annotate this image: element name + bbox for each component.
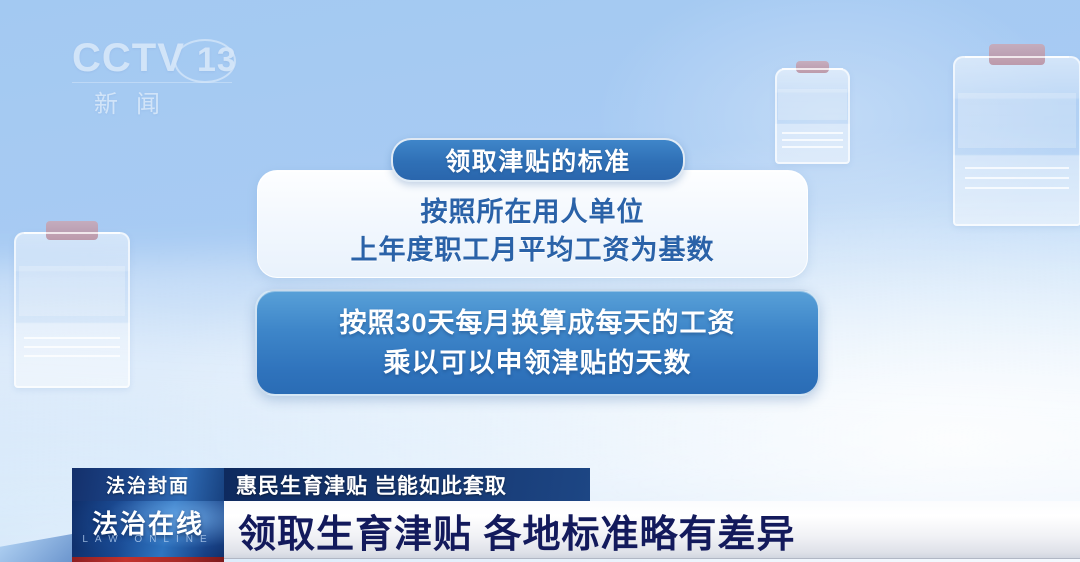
info-card-white-line1: 按照所在用人单位 bbox=[421, 193, 645, 231]
clipboard-header-band bbox=[778, 89, 847, 120]
channel-logo-cctv-text: CCTV bbox=[72, 36, 185, 80]
clipboard-line bbox=[965, 177, 1070, 179]
clipboard-icon bbox=[775, 68, 850, 164]
lower-third: 法治封面 惠民生育津贴 岂能如此套取 法治在线 LAW ONLINE 领取生育津… bbox=[0, 468, 1080, 562]
lower-third-left-wedge bbox=[0, 534, 72, 562]
clipboard-line bbox=[24, 337, 119, 339]
lower-third-bottom-row: 法治在线 LAW ONLINE 领取生育津贴 各地标准略有差异 bbox=[0, 501, 1080, 562]
channel-logo: CCTV 13 新闻 bbox=[72, 36, 232, 118]
info-card-white: 按照所在用人单位 上年度职工月平均工资为基数 bbox=[257, 170, 808, 278]
info-card-white-line2: 上年度职工月平均工资为基数 bbox=[351, 231, 715, 269]
clipboard-line bbox=[965, 167, 1070, 169]
clipboard-line bbox=[24, 346, 119, 348]
info-card-blue-line1: 按照30天每月换算成每天的工资 bbox=[339, 303, 735, 343]
lower-third-subtitle-bar: 惠民生育津贴 岂能如此套取 bbox=[224, 468, 590, 501]
info-card-blue: 按照30天每月换算成每天的工资 乘以可以申领津贴的天数 bbox=[255, 289, 820, 396]
clipboard-line bbox=[24, 355, 119, 357]
lower-third-brand-block: 法治在线 LAW ONLINE bbox=[72, 501, 224, 557]
clipboard-icon bbox=[14, 232, 130, 388]
lower-third-subtitle-text: 惠民生育津贴 岂能如此套取 bbox=[236, 470, 507, 500]
clipboard-line bbox=[965, 187, 1070, 189]
clipboard-line bbox=[782, 132, 844, 134]
lower-third-brand-sub: LAW ONLINE bbox=[72, 534, 224, 545]
clipboard-line bbox=[782, 139, 844, 141]
clipboard-line bbox=[782, 68, 844, 70]
channel-logo-oval-icon bbox=[174, 39, 236, 83]
clipboard-header-band bbox=[19, 266, 126, 316]
clipboard-clip-icon bbox=[46, 221, 97, 240]
lower-third-headline-text: 领取生育津贴 各地标准略有差异 bbox=[238, 503, 796, 558]
lower-third-kicker: 法治封面 bbox=[72, 468, 224, 501]
lower-third-top-row: 法治封面 惠民生育津贴 岂能如此套取 bbox=[72, 468, 590, 501]
lower-third-headline-bar: 领取生育津贴 各地标准略有差异 bbox=[224, 501, 1080, 559]
info-pill-heading: 领取津贴的标准 bbox=[391, 138, 685, 182]
channel-logo-divider bbox=[72, 82, 232, 83]
channel-logo-subtitle: 新闻 bbox=[94, 84, 232, 119]
info-card-blue-line2: 乘以可以申领津贴的天数 bbox=[384, 343, 692, 383]
lower-third-kicker-label: 法治封面 bbox=[106, 471, 190, 498]
broadcast-screen: CCTV 13 新闻 按照所在用人单位 上年度职工月平均工资为基数 领取津贴的标… bbox=[0, 0, 1080, 562]
lower-third-brand-redbar bbox=[72, 557, 224, 562]
clipboard-clip-icon bbox=[989, 44, 1045, 64]
clipboard-line bbox=[782, 146, 844, 148]
info-pill-label: 领取津贴的标准 bbox=[445, 142, 631, 178]
clipboard-line bbox=[24, 232, 119, 234]
clipboard-header-band bbox=[958, 93, 1076, 147]
clipboard-line bbox=[965, 56, 1070, 58]
clipboard-icon bbox=[953, 56, 1080, 226]
